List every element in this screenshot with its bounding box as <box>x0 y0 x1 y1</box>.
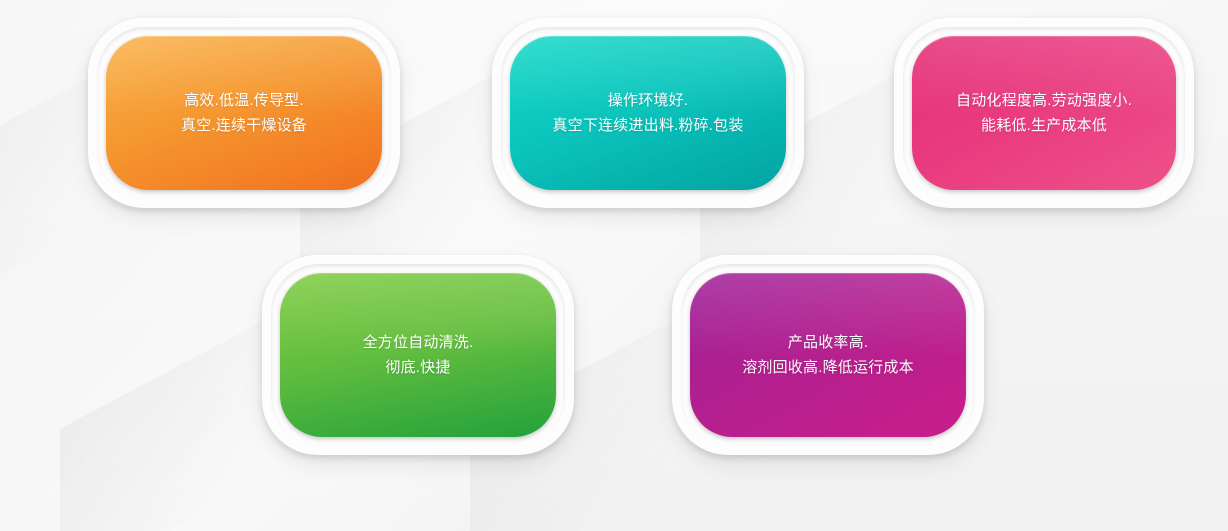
feature-card-label-automation: 自动化程度高.劳动强度小. 能耗低.生产成本低 <box>942 88 1146 138</box>
feature-card-label-efficiency: 高效.低温.传导型. 真空.连续干燥设备 <box>167 88 321 138</box>
infographic-canvas: 高效.低温.传导型. 真空.连续干燥设备 操作环境好. 真空下连续进出料.粉碎.… <box>0 0 1228 531</box>
feature-card-label-cleaning: 全方位自动清洗. 彻底.快捷 <box>349 330 488 380</box>
feature-card-cleaning[interactable]: 全方位自动清洗. 彻底.快捷 <box>262 255 574 455</box>
feature-card-yield[interactable]: 产品收率高. 溶剂回收高.降低运行成本 <box>672 255 984 455</box>
feature-card-face-efficiency: 高效.低温.传导型. 真空.连续干燥设备 <box>106 36 382 190</box>
feature-card-efficiency[interactable]: 高效.低温.传导型. 真空.连续干燥设备 <box>88 18 400 208</box>
feature-card-environment[interactable]: 操作环境好. 真空下连续进出料.粉碎.包装 <box>492 18 804 208</box>
feature-card-label-environment: 操作环境好. 真空下连续进出料.粉碎.包装 <box>538 88 757 138</box>
feature-card-automation[interactable]: 自动化程度高.劳动强度小. 能耗低.生产成本低 <box>894 18 1194 208</box>
feature-card-face-yield: 产品收率高. 溶剂回收高.降低运行成本 <box>690 273 966 437</box>
feature-card-face-cleaning: 全方位自动清洗. 彻底.快捷 <box>280 273 556 437</box>
feature-card-label-yield: 产品收率高. 溶剂回收高.降低运行成本 <box>728 330 928 380</box>
feature-card-face-environment: 操作环境好. 真空下连续进出料.粉碎.包装 <box>510 36 786 190</box>
feature-card-face-automation: 自动化程度高.劳动强度小. 能耗低.生产成本低 <box>912 36 1176 190</box>
